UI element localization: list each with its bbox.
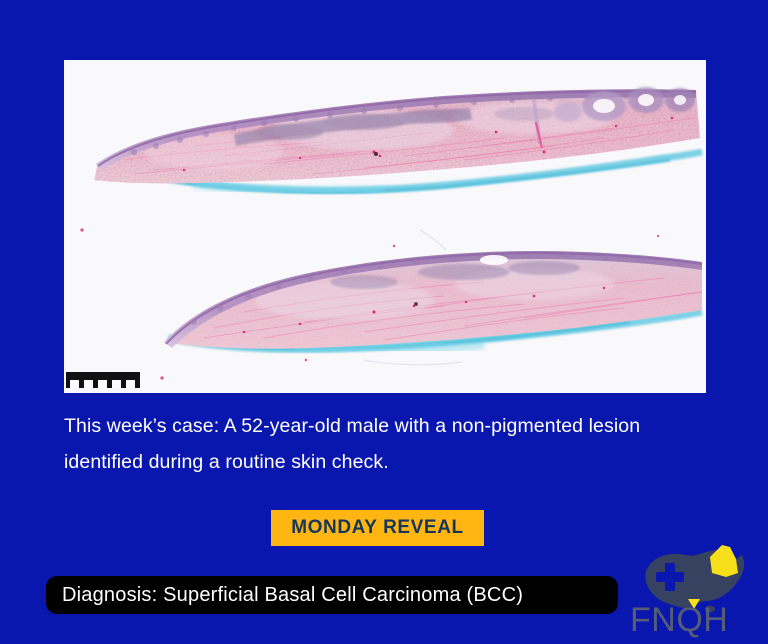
caption-line-1: This week’s case: A 52-year-old male wit… xyxy=(64,408,704,444)
fnqh-wordmark: FNQH xyxy=(630,601,728,639)
diagnosis-text: Diagnosis: Superficial Basal Cell Carcin… xyxy=(46,584,523,607)
queensland-highlight-icon xyxy=(710,545,738,577)
diagnosis-banner: Diagnosis: Superficial Basal Cell Carcin… xyxy=(46,576,618,614)
fnqh-logo: FNQH xyxy=(626,543,762,639)
scale-bar xyxy=(66,372,140,388)
histopathology-slide-panel xyxy=(64,60,706,393)
fnqh-logo-svg: FNQH xyxy=(626,543,762,639)
clear-space xyxy=(480,255,508,265)
monday-reveal-button[interactable]: MONDAY REVEAL xyxy=(271,510,484,546)
histopathology-slide-image xyxy=(64,60,706,393)
caption-line-2: identified during a routine skin check. xyxy=(64,444,704,480)
case-caption: This week’s case: A 52-year-old male wit… xyxy=(64,408,704,480)
monday-reveal-label: MONDAY REVEAL xyxy=(291,517,464,539)
